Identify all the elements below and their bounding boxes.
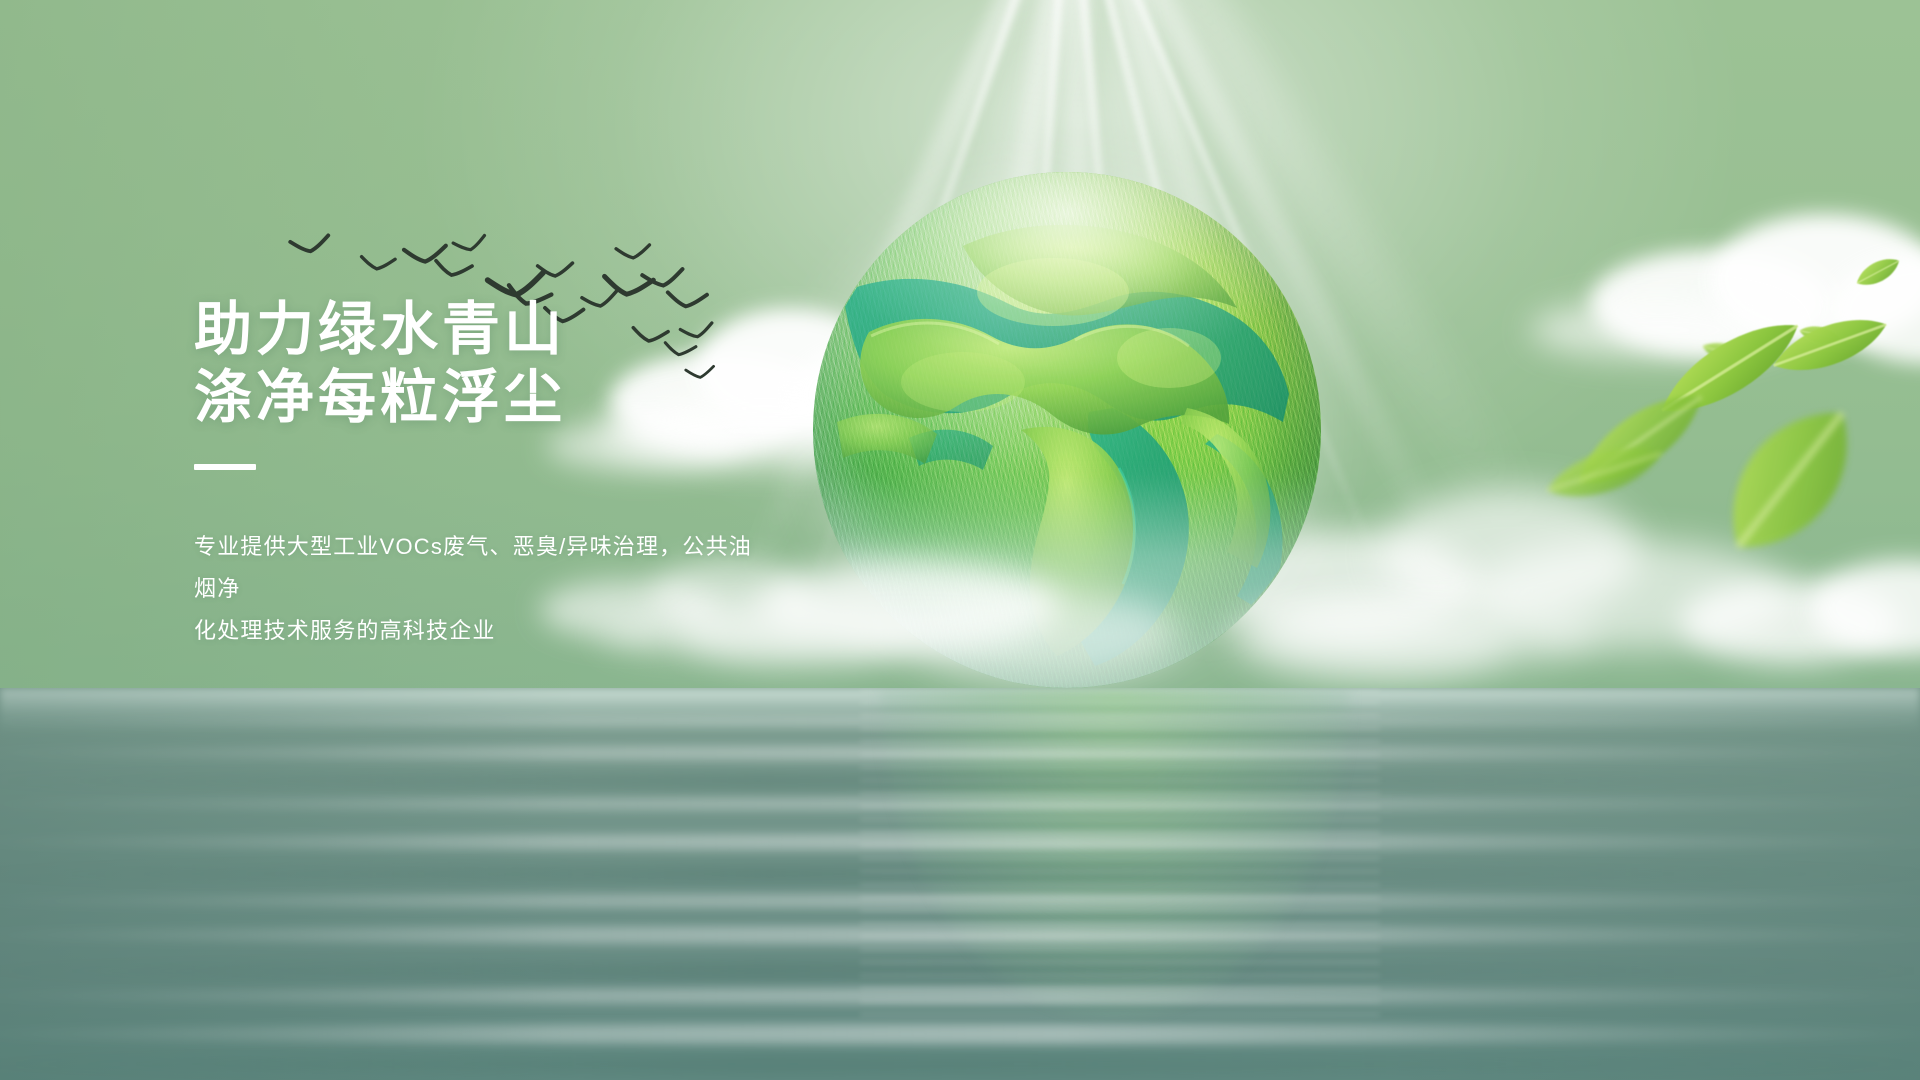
subtitle: 专业提供大型工业VOCs废气、恶臭/异味治理，公共油烟净 化处理技术服务的高科技… xyxy=(194,526,754,652)
leaf-icon xyxy=(1703,386,1877,574)
banner-root: 助力绿水青山 涤净每粒浮尘 专业提供大型工业VOCs废气、恶臭/异味治理，公共油… xyxy=(0,0,1920,1080)
headline-line-2: 涤净每粒浮尘 xyxy=(194,364,954,432)
headline-divider xyxy=(194,464,256,470)
headline-line-1: 助力绿水青山 xyxy=(194,296,954,364)
subtitle-line-2: 化处理技术服务的高科技企业 xyxy=(194,618,496,643)
water-surface-reflection xyxy=(0,688,1920,1080)
leaf-icon xyxy=(1852,252,1903,292)
banner-copy: 助力绿水青山 涤净每粒浮尘 专业提供大型工业VOCs废气、恶臭/异味治理，公共油… xyxy=(194,296,954,652)
subtitle-line-1: 专业提供大型工业VOCs废气、恶臭/异味治理，公共油烟净 xyxy=(194,534,752,601)
